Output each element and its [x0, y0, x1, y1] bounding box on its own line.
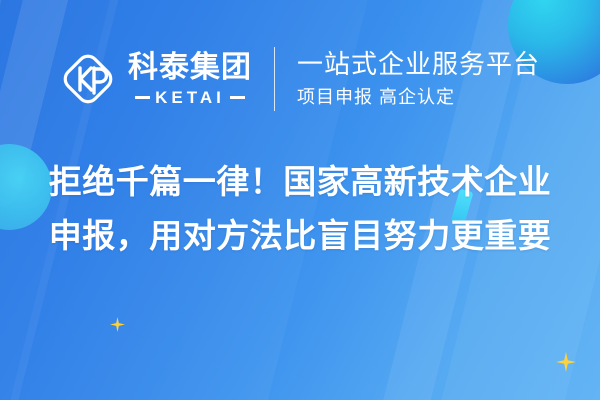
brand-name-cn: 科泰集团 [128, 53, 252, 83]
tagline-sub: 项目申报 高企认定 [297, 87, 540, 108]
tagline-main: 一站式企业服务平台 [297, 50, 540, 80]
brand-text-block: 科泰集团 KETAI [128, 53, 252, 106]
headline-block: 拒绝千篇一律！国家高新技术企业 申报，用对方法比盲目努力更重要 [0, 155, 600, 263]
sparkle-star-icon [556, 352, 576, 372]
headline-line-1: 拒绝千篇一律！国家高新技术企业 [0, 155, 600, 209]
headline-line-2: 申报，用对方法比盲目努力更重要 [0, 209, 600, 263]
brand-name-en-row: KETAI [135, 89, 245, 106]
brand-dash-right-icon [230, 96, 245, 99]
tagline-block: 一站式企业服务平台 项目申报 高企认定 [297, 50, 540, 108]
promo-banner: 科泰集团 KETAI 一站式企业服务平台 项目申报 高企认定 拒绝千篇一律！国家… [0, 0, 600, 400]
ketai-diamond-kp-logo-icon [60, 51, 116, 107]
brand-dash-left-icon [135, 96, 150, 99]
brand-lockup: 科泰集团 KETAI [60, 51, 252, 107]
banner-header: 科泰集团 KETAI 一站式企业服务平台 项目申报 高企认定 [0, 40, 600, 118]
brand-name-en: KETAI [155, 89, 225, 106]
sparkle-star-icon [110, 317, 125, 332]
vertical-divider [274, 47, 275, 111]
